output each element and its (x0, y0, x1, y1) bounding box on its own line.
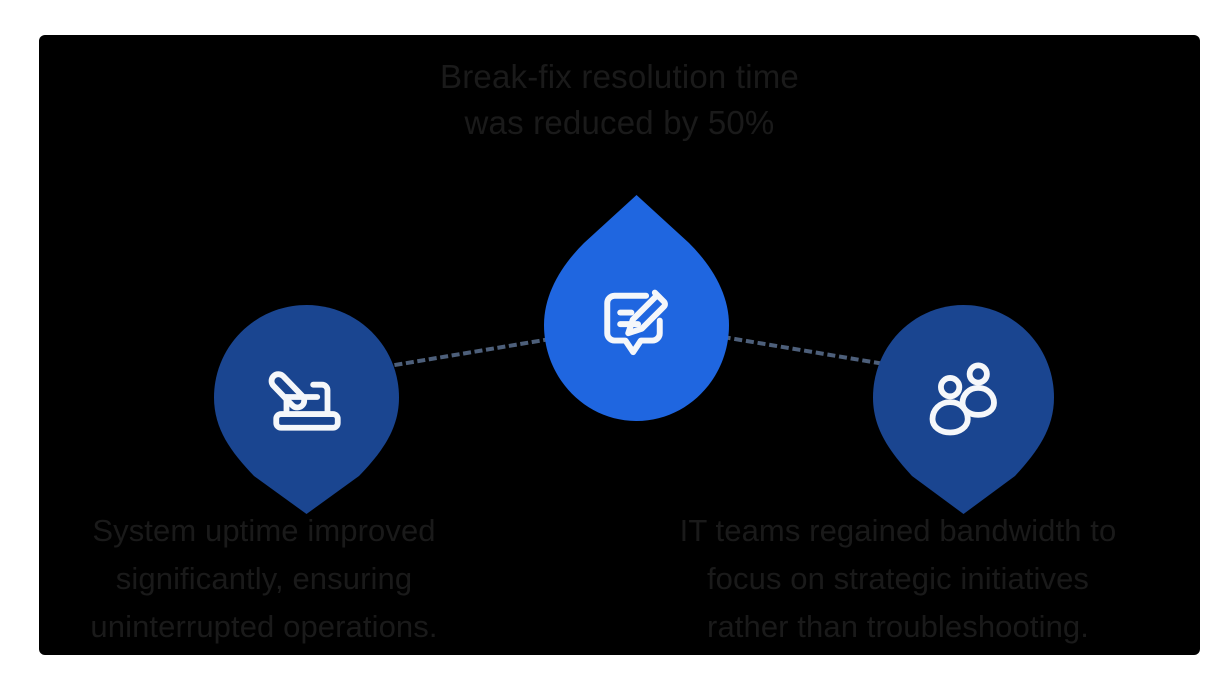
paper-cutter-icon (266, 356, 348, 438)
connector-left-center (383, 335, 563, 369)
caption-right: IT teams regained bandwidth to focus on … (611, 507, 1185, 651)
caption-left: System uptime improved significantly, en… (39, 507, 524, 651)
headline-text: Break-fix resolution time was reduced by… (39, 54, 1200, 146)
users-group-icon (919, 353, 1009, 443)
message-edit-icon (595, 280, 679, 364)
pin-center[interactable] (544, 195, 729, 421)
connector-center-right (711, 333, 894, 367)
pin-left[interactable] (214, 305, 399, 514)
pin-right[interactable] (873, 305, 1054, 514)
infographic-panel: Break-fix resolution time was reduced by… (39, 35, 1200, 655)
